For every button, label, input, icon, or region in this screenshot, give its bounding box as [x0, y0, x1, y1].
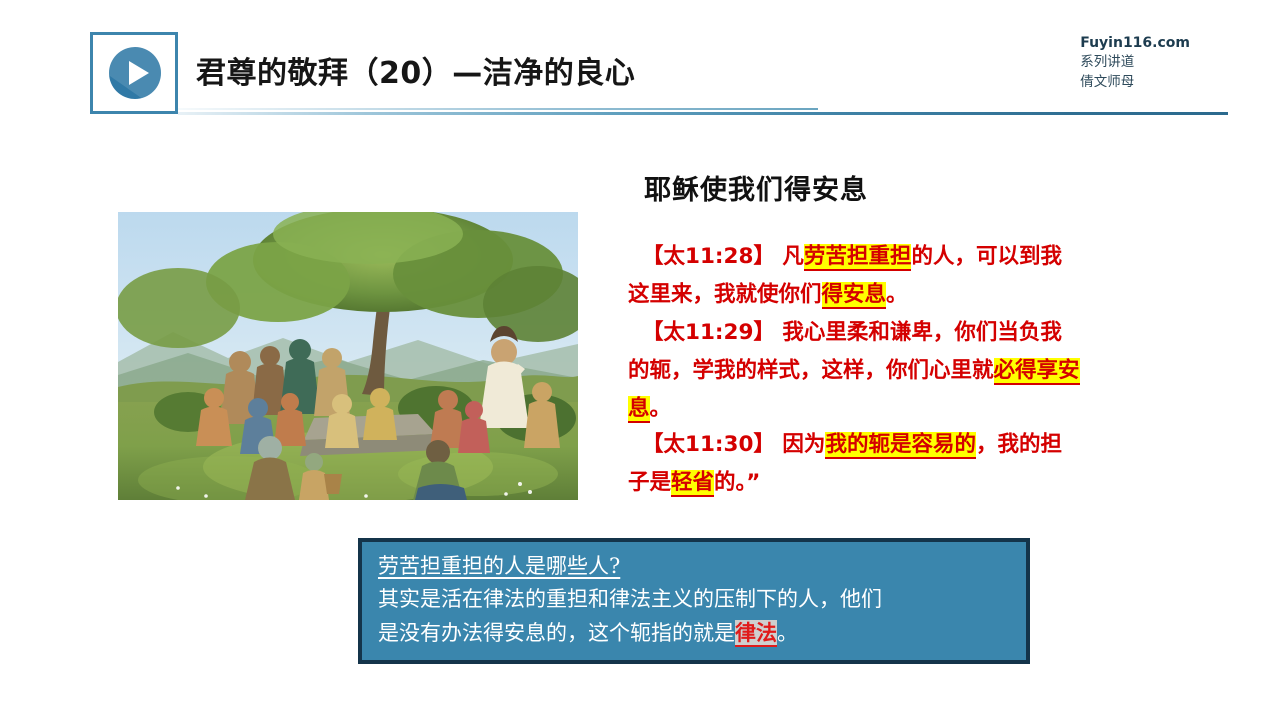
- verse-highlight: 我的轭是容易的: [825, 432, 976, 459]
- callout-answer-line-1: 其实是活在律法的重担和律法主义的压制下的人，他们: [378, 584, 882, 615]
- verse-matthew-11-28: 【太11:28】 凡劳苦担重担的人，可以到我这里来，我就使你们得安息。: [628, 238, 1080, 314]
- verse-text: 。: [886, 282, 908, 307]
- callout-question: 劳苦担重担的人是哪些人?: [378, 551, 620, 582]
- header-divider-upper: [178, 108, 818, 110]
- header-divider: [178, 112, 1228, 115]
- verse-matthew-11-29: 【太11:29】 我心里柔和谦卑，你们当负我的轭，学我的样式，这样，你们心里就必…: [628, 314, 1080, 428]
- illustration-graphic: [118, 212, 578, 500]
- verse-text: 的。”: [714, 470, 760, 495]
- verse-highlight: 得安息: [822, 282, 887, 309]
- verse-highlight: 轻省: [671, 470, 714, 497]
- slide-header: 君尊的敬拜（20）—洁净的良心 Fuyin116.com 系列讲道 倩文师母: [0, 0, 1280, 130]
- callout-text: 是没有办法得安息的，这个轭指的就是: [378, 621, 735, 645]
- callout-answer-line-2: 是没有办法得安息的，这个轭指的就是律法。: [378, 617, 798, 649]
- speaker-label: 倩文师母: [1080, 73, 1190, 93]
- section-heading: 耶稣使我们得安息: [644, 168, 868, 207]
- callout-box: 劳苦担重担的人是哪些人? 其实是活在律法的重担和律法主义的压制下的人，他们 是没…: [358, 538, 1030, 664]
- teaching-illustration: [118, 212, 578, 500]
- site-name[interactable]: Fuyin116.com: [1080, 33, 1190, 53]
- verse-text: 【太11:30】 因为: [642, 432, 825, 457]
- callout-text: 。: [777, 621, 798, 645]
- page-title: 君尊的敬拜（20）—洁净的良心: [196, 48, 635, 92]
- play-triangle-icon: [129, 61, 149, 85]
- header-meta: Fuyin116.com 系列讲道 倩文师母: [1080, 33, 1190, 92]
- verse-text: 【太11:28】 凡: [642, 244, 804, 269]
- verse-text: 。: [650, 396, 672, 421]
- callout-highlight-law: 律法: [735, 620, 777, 647]
- series-label: 系列讲道: [1080, 53, 1190, 73]
- verse-matthew-11-30: 【太11:30】 因为我的轭是容易的，我的担子是轻省的。”: [628, 426, 1080, 502]
- verse-highlight: 劳苦担重担: [804, 244, 912, 271]
